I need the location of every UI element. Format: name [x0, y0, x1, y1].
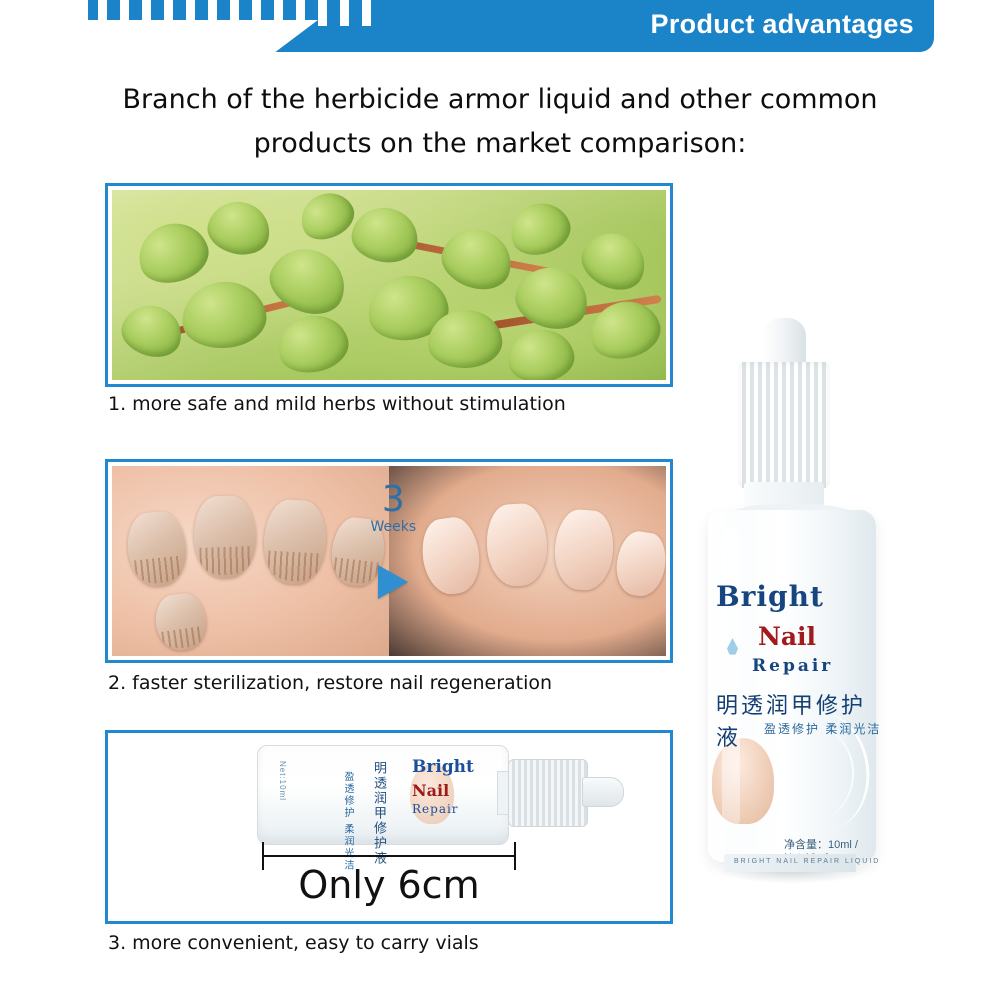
measure-line: [262, 855, 516, 857]
nail-healthy: [612, 529, 666, 600]
bottle-line3-text: Repair: [752, 656, 833, 676]
page-title: Product advantages: [651, 9, 914, 40]
nail-damaged: [152, 591, 209, 653]
bottle-highlight: [722, 528, 740, 828]
size-label: Only 6cm: [298, 863, 479, 907]
nails-before-image: [112, 466, 389, 656]
bottle-brand-text: Bright: [716, 580, 824, 613]
bottle-chinese-sub: 盈透修护 柔润光洁: [764, 720, 881, 737]
bottle-cap: [738, 362, 830, 488]
banner-dash: [362, 0, 371, 26]
mini-bottle-tip: [582, 777, 624, 807]
panel-size-photo: Net:10ml 盈透修护 柔润光洁 明透润甲修护液 Bright Nail R…: [105, 730, 673, 924]
intro-line-1: Branch of the herbicide armor liquid and…: [60, 78, 940, 122]
header-banner: Product advantages: [88, 0, 934, 58]
nails-after-image: [389, 466, 666, 656]
mini-bottle-side-text: Net:10ml: [278, 761, 287, 801]
caption-nails: 2. faster sterilization, restore nail re…: [108, 672, 552, 694]
mini-bottle-brand: Bright: [412, 757, 474, 777]
weeks-overlay: 3 Weeks: [361, 481, 425, 535]
mini-bottle-line3: Repair: [412, 802, 459, 816]
intro-heading: Branch of the herbicide armor liquid and…: [60, 78, 940, 166]
banner-notch: [88, 20, 318, 58]
mini-bottle-chinese-main: 明透润甲修护液: [370, 761, 389, 866]
bottle-dropper-tip: [762, 318, 806, 366]
nail-healthy: [552, 508, 615, 592]
nail-healthy: [418, 514, 484, 597]
panel-nails-photo: 3 Weeks: [105, 459, 673, 663]
mini-bottle-cap: [508, 759, 588, 827]
caption-size: 3. more convenient, easy to carry vials: [108, 932, 479, 954]
nail-damaged: [124, 509, 189, 589]
bottle-tiny-text: BRIGHT NAIL REPAIR LIQUID: [734, 858, 880, 865]
plants-photo: [112, 190, 666, 380]
intro-line-2: products on the market comparison:: [60, 122, 940, 166]
nail-healthy: [485, 502, 549, 587]
nail-damaged: [262, 498, 328, 585]
size-photo: Net:10ml 盈透修护 柔润光洁 明透润甲修护液 Bright Nail R…: [112, 737, 666, 917]
bottle-line2-text: Nail: [758, 622, 816, 651]
nail-damaged: [193, 495, 258, 579]
weeks-number: 3: [361, 481, 425, 519]
caption-plants: 1. more safe and mild herbs without stim…: [108, 393, 566, 415]
mini-bottle-line2: Nail: [412, 781, 449, 800]
nails-photo: 3 Weeks: [112, 466, 666, 656]
panel-plants-photo: [105, 183, 673, 387]
banner-dash: [340, 0, 349, 26]
product-bottle-image: Bright Nail Repair 明透润甲修护液 盈透修护 柔润光洁 净含量…: [700, 318, 890, 888]
banner-dash: [318, 0, 327, 26]
right-arrow-icon: [378, 565, 408, 599]
weeks-label: Weeks: [361, 519, 425, 535]
